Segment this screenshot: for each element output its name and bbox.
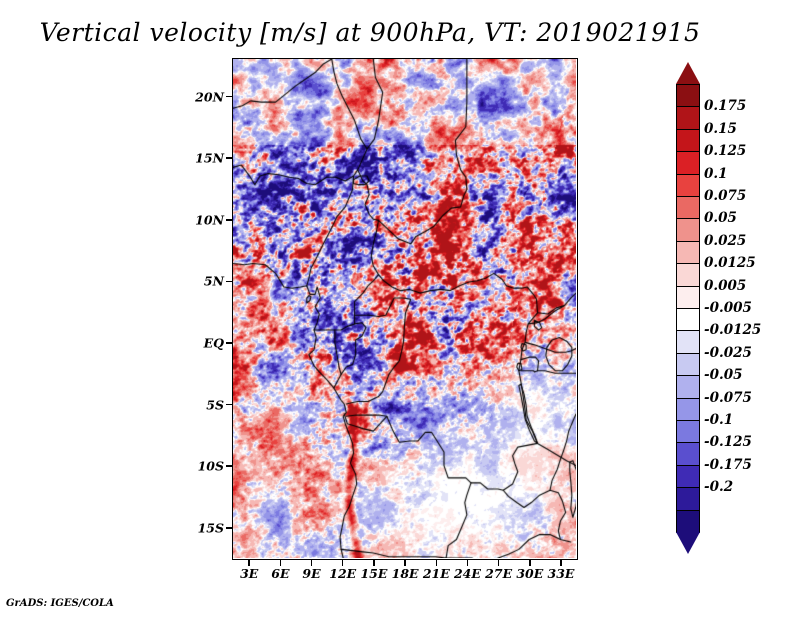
y-axis-tick-mark [226, 465, 232, 467]
colorbar-swatch [676, 420, 700, 444]
colorbar-tick-label: -0.125 [704, 434, 752, 450]
colorbar-tick-label: -0.1 [704, 412, 733, 428]
colorbar-tick-label: 0.0125 [704, 255, 756, 271]
colorbar-tick-label: -0.075 [704, 390, 752, 406]
credit-text: GrADS: IGES/COLA [6, 598, 114, 609]
colorbar-swatch [676, 375, 700, 399]
y-axis-tick-mark [226, 157, 232, 159]
x-axis-tick-label: 15E [360, 566, 387, 581]
colorbar-tick-label: 0.025 [704, 233, 746, 249]
x-axis-tick-mark [436, 560, 438, 566]
colorbar-swatch [676, 218, 700, 242]
colorbar-top-arrow [676, 62, 700, 84]
y-axis-tick-mark [226, 281, 232, 283]
colorbar-swatch [676, 330, 700, 354]
x-axis-tick-mark [280, 560, 282, 566]
map-plot-area[interactable] [232, 58, 578, 560]
colorbar-tick-label: -0.2 [704, 479, 733, 495]
colorbar-swatch [676, 106, 700, 130]
colorbar-swatch [676, 129, 700, 153]
x-axis-tick-mark [498, 560, 500, 566]
x-axis-tick-mark [467, 560, 469, 566]
x-axis-tick-label: 21E [423, 566, 450, 581]
x-axis-tick-label: 3E [240, 566, 258, 581]
y-axis-tick-label: EQ [176, 335, 224, 350]
colorbar-swatch [676, 308, 700, 332]
y-axis-tick-label: 5N [176, 274, 224, 289]
x-axis-tick-mark [248, 560, 250, 566]
x-axis-tick-mark [404, 560, 406, 566]
colorbar-swatch [676, 442, 700, 466]
x-axis-tick-label: 27E [485, 566, 512, 581]
colorbar-swatch [676, 510, 700, 534]
colorbar-tick-label: 0.125 [704, 143, 746, 159]
colorbar-tick-label: -0.175 [704, 457, 752, 473]
colorbar-tick-label: 0.075 [704, 188, 746, 204]
y-axis-tick-mark [226, 342, 232, 344]
colorbar-swatch [676, 465, 700, 489]
colorbar-swatch [676, 151, 700, 175]
colorbar-tick-label: -0.005 [704, 300, 752, 316]
colorbar-swatch [676, 196, 700, 220]
vertical-velocity-heatmap [233, 59, 576, 558]
colorbar-swatch [676, 353, 700, 377]
y-axis-tick-label: 15S [176, 520, 224, 535]
colorbar-tick-label: -0.05 [704, 367, 742, 383]
colorbar-swatch [676, 241, 700, 265]
x-axis-tick-label: 6E [271, 566, 289, 581]
y-axis-tick-mark [226, 404, 232, 406]
page-title: Vertical velocity [m/s] at 900hPa, VT: 2… [0, 18, 740, 47]
colorbar-bottom-arrow [676, 532, 700, 554]
colorbar-swatch [676, 487, 700, 511]
x-axis-tick-label: 24E [454, 566, 481, 581]
x-axis-tick-label: 30E [516, 566, 543, 581]
x-axis-tick-label: 33E [548, 566, 575, 581]
y-axis-tick-label: 20N [176, 89, 224, 104]
colorbar-swatch [676, 263, 700, 287]
x-axis-tick-mark [529, 560, 531, 566]
y-axis-tick-label: 10S [176, 459, 224, 474]
colorbar[interactable] [676, 62, 700, 554]
colorbar-swatch [676, 286, 700, 310]
x-axis-tick-label: 9E [302, 566, 320, 581]
x-axis-tick-label: 12E [329, 566, 356, 581]
colorbar-swatch [676, 174, 700, 198]
x-axis-tick-mark [373, 560, 375, 566]
colorbar-swatch [676, 398, 700, 422]
y-axis-tick-mark [226, 96, 232, 98]
y-axis-tick-mark [226, 527, 232, 529]
colorbar-tick-label: 0.05 [704, 210, 737, 226]
x-axis-tick-mark [311, 560, 313, 566]
colorbar-tick-label: -0.0125 [704, 322, 761, 338]
colorbar-tick-label: -0.025 [704, 345, 752, 361]
y-axis-tick-label: 15N [176, 151, 224, 166]
x-axis-tick-mark [560, 560, 562, 566]
colorbar-tick-label: 0.15 [704, 121, 737, 137]
y-axis-tick-label: 10N [176, 212, 224, 227]
colorbar-tick-label: 0.1 [704, 166, 728, 182]
colorbar-swatch [676, 84, 700, 108]
colorbar-tick-label: 0.175 [704, 98, 746, 114]
x-axis-tick-mark [342, 560, 344, 566]
x-axis-tick-label: 18E [392, 566, 419, 581]
y-axis-tick-label: 5S [176, 397, 224, 412]
colorbar-tick-label: 0.005 [704, 278, 746, 294]
y-axis-tick-mark [226, 219, 232, 221]
